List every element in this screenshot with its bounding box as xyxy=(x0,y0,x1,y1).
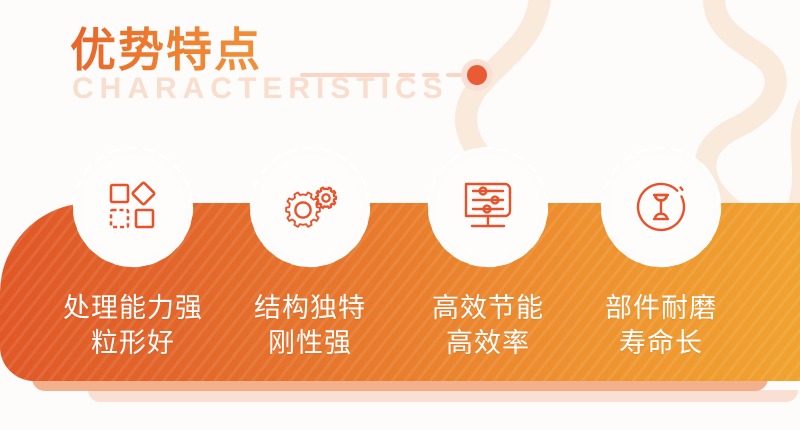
feature-label-3: 高效节能 高效率 xyxy=(393,292,583,361)
feature-label-2: 结构独特 刚性强 xyxy=(215,292,405,361)
feature-nodes xyxy=(0,0,800,430)
banner-graphic: CHARACTERISTICS 优势特点 xyxy=(0,0,800,430)
feature-disc-1 xyxy=(81,155,185,259)
feature-label-4: 部件耐磨 寿命长 xyxy=(566,292,756,361)
feature-label-1: 处理能力强 粒形好 xyxy=(38,292,228,361)
